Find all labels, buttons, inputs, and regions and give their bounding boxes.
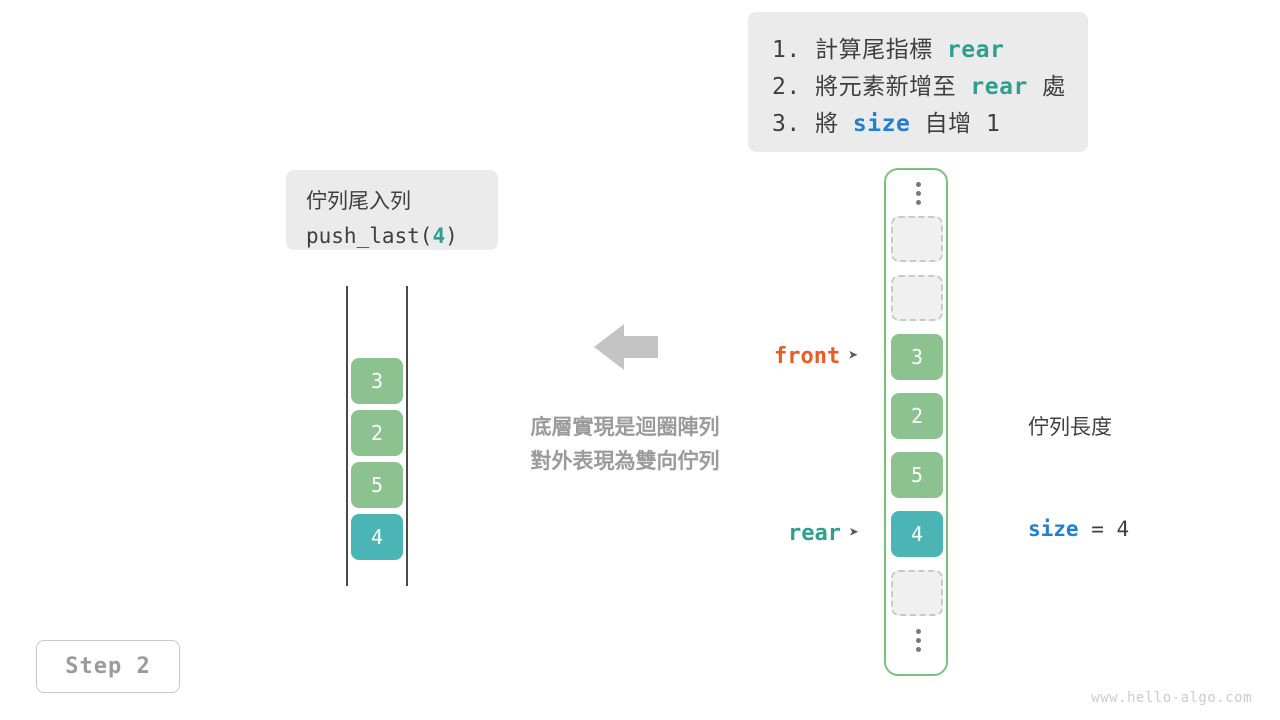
ellipsis-dots-top bbox=[886, 178, 950, 208]
array-slot-filled: 2 bbox=[891, 393, 943, 439]
step-2-text-after: 處 bbox=[1042, 74, 1066, 100]
circular-array-container: 3 2 5 4 bbox=[884, 168, 948, 676]
rear-pointer-label: rear ➤ bbox=[788, 521, 859, 546]
array-slot-empty bbox=[891, 570, 943, 616]
operation-call: push_last(4) bbox=[306, 219, 498, 254]
array-slot-filled: 5 bbox=[891, 452, 943, 498]
rear-pointer-arrow-icon: ➤ bbox=[849, 525, 859, 542]
steps-callout-box: 1. 計算尾指標 rear 2. 將元素新增至 rear 處 3. 將 size… bbox=[748, 12, 1088, 152]
size-annotation: 佇列長度 size = 4 bbox=[1028, 342, 1129, 614]
size-value: 4 bbox=[1117, 517, 1130, 541]
step-2-keyword: rear bbox=[970, 74, 1027, 100]
step-3-text-after: 自增 1 bbox=[925, 111, 1001, 137]
size-equals: = bbox=[1079, 517, 1117, 541]
array-slot-filled: 4 bbox=[891, 511, 943, 557]
caption-line-1: 底層實現是迴圈陣列 bbox=[531, 415, 720, 439]
step-line-3: 3. 將 size 自增 1 bbox=[772, 106, 1088, 143]
step-badge: Step 2 bbox=[36, 640, 180, 693]
step-1-text: 計算尾指標 bbox=[815, 37, 933, 63]
size-annotation-value-line: size = 4 bbox=[1028, 512, 1129, 546]
operation-title: 佇列尾入列 bbox=[306, 184, 498, 219]
array-slot-empty bbox=[891, 216, 943, 262]
step-line-2: 2. 將元素新增至 rear 處 bbox=[772, 69, 1088, 106]
deque-cell: 3 bbox=[351, 358, 403, 404]
array-slot-filled: 3 bbox=[891, 334, 943, 380]
front-pointer-label: front ➤ bbox=[774, 344, 858, 369]
ellipsis-dots-bottom bbox=[886, 625, 950, 655]
left-arrow-icon bbox=[594, 322, 658, 372]
array-slot-empty bbox=[891, 275, 943, 321]
deque-cell: 2 bbox=[351, 410, 403, 456]
center-caption: 底層實現是迴圈陣列 對外表現為雙向佇列 bbox=[500, 410, 750, 478]
watermark: www.hello-algo.com bbox=[1091, 690, 1252, 706]
size-annotation-title: 佇列長度 bbox=[1028, 410, 1129, 444]
step-1-keyword: rear bbox=[947, 37, 1004, 63]
deque-abstract-view: 3 2 5 4 bbox=[346, 286, 408, 586]
deque-cell: 4 bbox=[351, 514, 403, 560]
size-variable-name: size bbox=[1028, 517, 1079, 541]
step-3-text: 將 bbox=[815, 111, 839, 137]
deque-rail-right bbox=[406, 286, 408, 586]
step-3-index: 3. bbox=[772, 111, 801, 137]
operation-call-arg: 4 bbox=[432, 224, 445, 248]
diagram-canvas: 1. 計算尾指標 rear 2. 將元素新增至 rear 處 3. 將 size… bbox=[0, 0, 1280, 720]
front-pointer-arrow-icon: ➤ bbox=[848, 348, 858, 365]
operation-callout-box: 佇列尾入列 push_last(4) bbox=[286, 170, 498, 250]
front-pointer-text: front bbox=[774, 344, 840, 369]
step-line-1: 1. 計算尾指標 rear bbox=[772, 32, 1088, 69]
deque-cell: 5 bbox=[351, 462, 403, 508]
deque-cell-stack: 3 2 5 4 bbox=[351, 358, 403, 566]
step-2-text: 將元素新增至 bbox=[815, 74, 956, 100]
caption-line-2: 對外表現為雙向佇列 bbox=[531, 449, 720, 473]
rear-pointer-text: rear bbox=[788, 521, 841, 546]
deque-rail-left bbox=[346, 286, 348, 586]
step-3-keyword: size bbox=[853, 111, 910, 137]
step-2-index: 2. bbox=[772, 74, 801, 100]
operation-call-suffix: ) bbox=[445, 224, 458, 248]
step-1-index: 1. bbox=[772, 37, 801, 63]
operation-call-prefix: push_last( bbox=[306, 224, 432, 248]
